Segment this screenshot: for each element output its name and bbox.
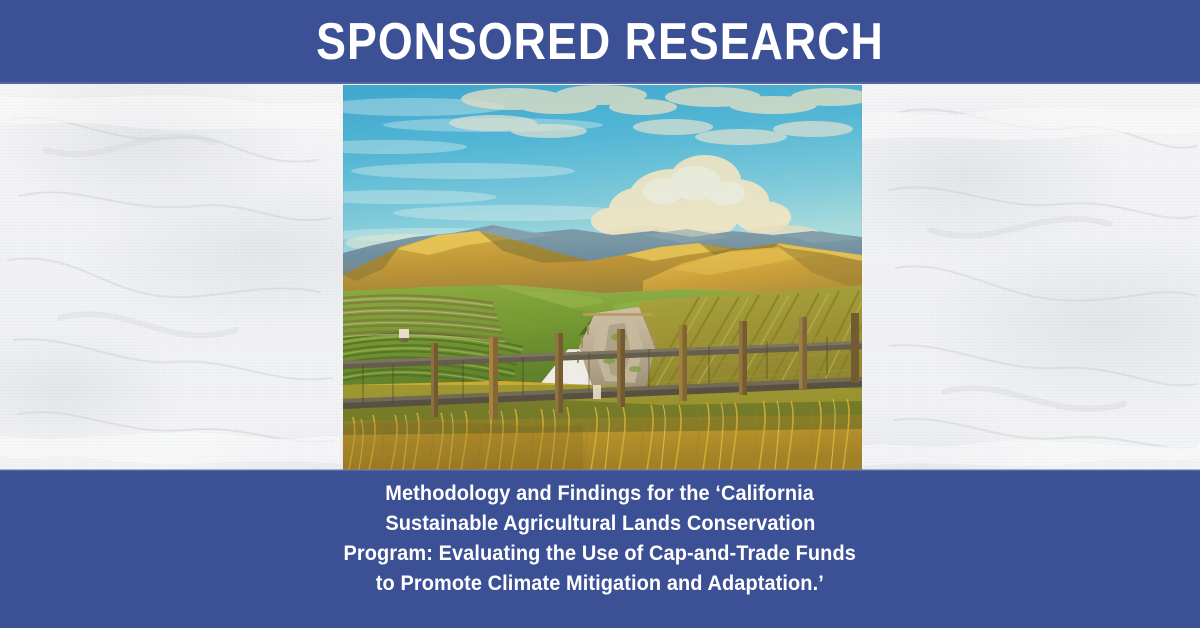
caption-line-4: to Promote Climate Mitigation and Adapta… — [376, 569, 824, 599]
caption-line-1: Methodology and Findings for the ‘Califo… — [386, 479, 815, 509]
sponsored-research-poster: SPONSORED RESEARCH Methodology and Findi… — [0, 0, 1200, 628]
vineyard-landscape-photo — [343, 85, 862, 470]
caption-block: Methodology and Findings for the ‘Califo… — [0, 470, 1200, 628]
caption-line-2: Sustainable Agricultural Lands Conservat… — [385, 509, 815, 539]
caption-line-3: Program: Evaluating the Use of Cap-and-T… — [344, 539, 856, 569]
page-title: SPONSORED RESEARCH — [84, 0, 1116, 84]
